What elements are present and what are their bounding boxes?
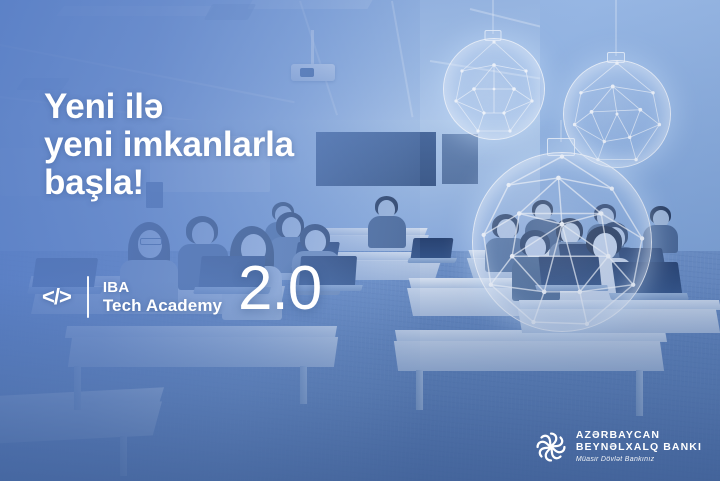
bank-name-line-1: AZƏRBAYCAN <box>576 429 702 441</box>
headline-line-2: yeni imkanlarla <box>44 126 444 164</box>
eight-point-pinwheel-star-icon <box>535 431 567 463</box>
code-brackets-icon: </> <box>42 284 71 310</box>
bank-logo: AZƏRBAYCAN BEYNƏLXALQ BANKI Müasir Dövlə… <box>535 429 702 465</box>
academy-line-1: IBA <box>103 279 222 297</box>
bank-name-line-2: BEYNƏLXALQ BANKI <box>576 441 702 453</box>
headline-line-1: Yeni ilə <box>44 88 444 126</box>
headline: Yeni ilə yeni imkanlarla başla! <box>44 88 444 202</box>
academy-line-2: Tech Academy <box>103 297 222 315</box>
academy-lockup: </> IBA Tech Academy <box>42 276 222 318</box>
bank-wordmark: AZƏRBAYCAN BEYNƏLXALQ BANKI Müasir Dövlə… <box>576 429 702 465</box>
headline-line-3: başla! <box>44 164 444 202</box>
bank-tagline: Müasir Dövlət Bankınız <box>576 454 702 465</box>
lockup-divider <box>87 276 89 318</box>
academy-name: IBA Tech Academy <box>103 279 222 315</box>
version-number: 2.0 <box>238 258 321 320</box>
banner-image: Yeni ilə yeni imkanlarla başla! </> IBA … <box>0 0 720 481</box>
